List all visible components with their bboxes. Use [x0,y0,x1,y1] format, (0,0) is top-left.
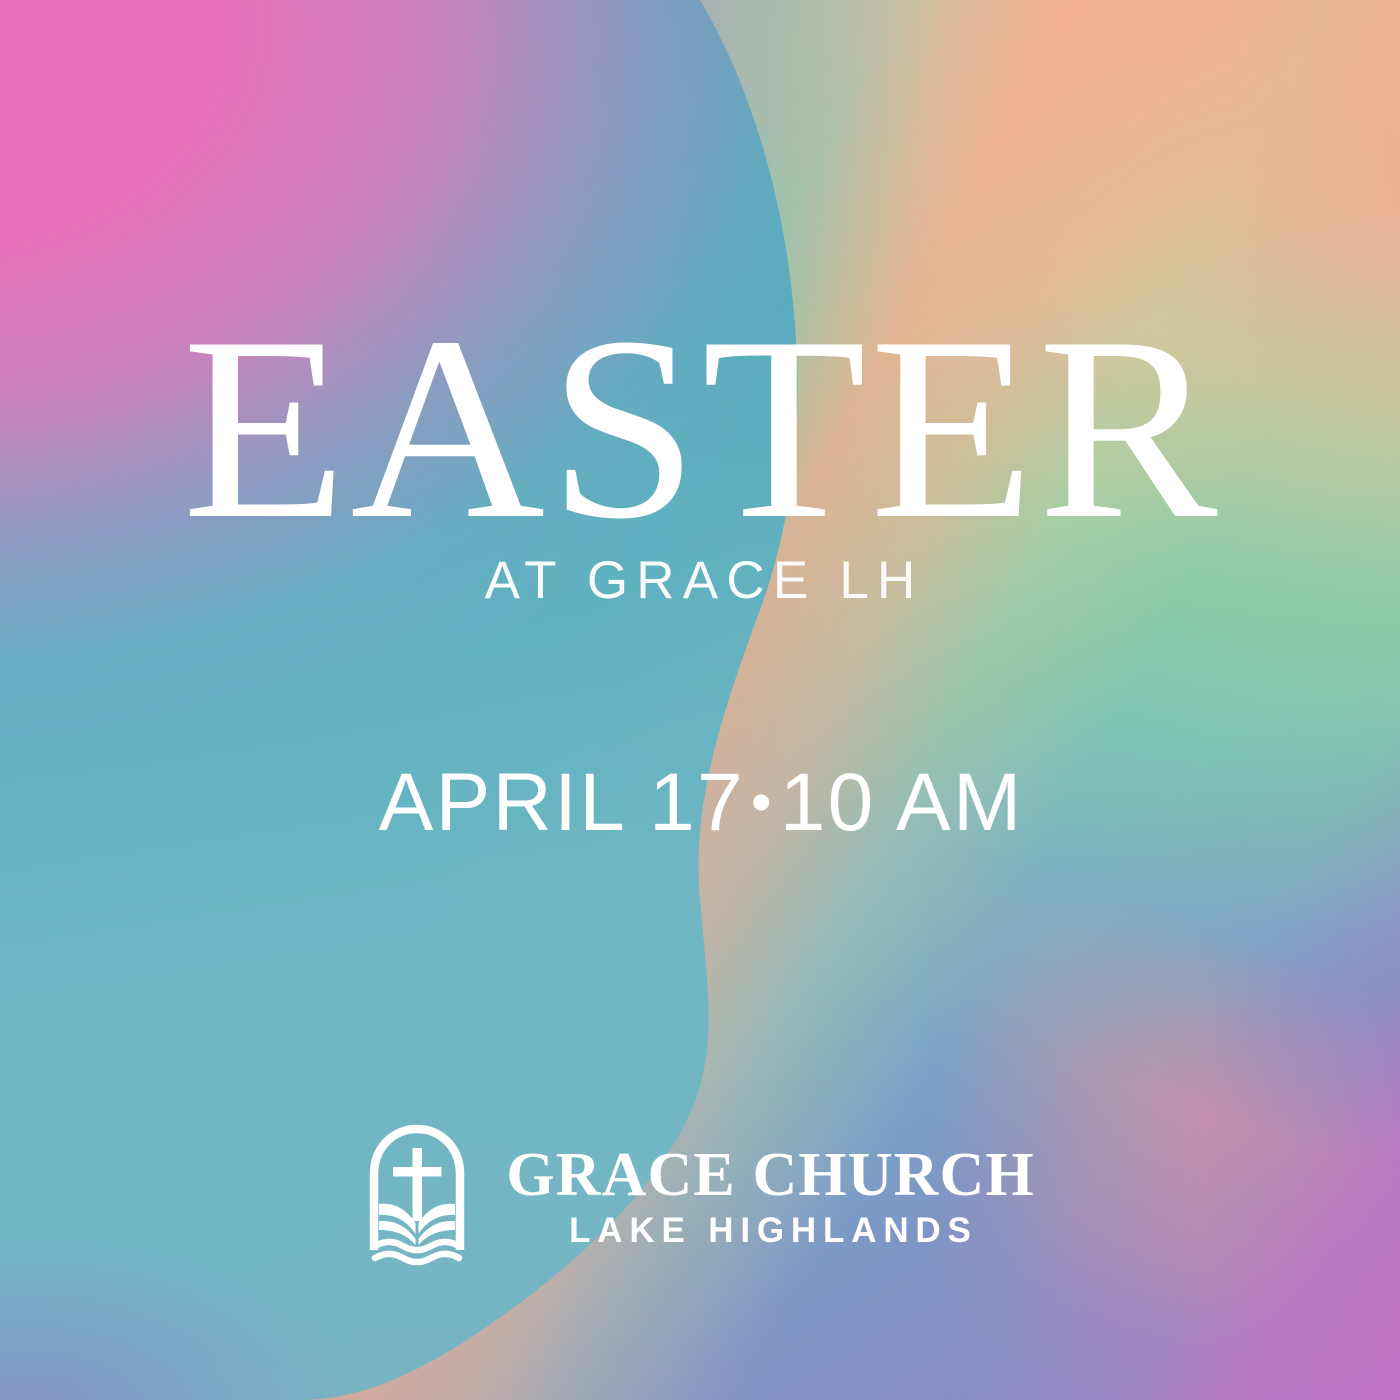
headline-block: EASTER AT GRACE LH [0,318,1400,607]
brand-logo-lockup: GRACE CHURCH LAKE HIGHLANDS [0,1122,1400,1266]
brand-location: LAKE HIGHLANDS [562,1213,977,1248]
event-datetime: APRIL 17•10 AM [0,762,1400,844]
grace-church-arch-cross-book-water-logo-icon [365,1122,469,1266]
subtitle: AT GRACE LH [0,554,1400,607]
brand-wordmark: GRACE CHURCH LAKE HIGHLANDS [505,1140,1034,1248]
bullet-separator-icon: • [745,769,780,835]
brand-name: GRACE CHURCH [505,1144,1034,1206]
easter-promo-poster: EASTER AT GRACE LH APRIL 17•10 AM [0,0,1400,1400]
page-title: EASTER [0,318,1400,538]
event-date: APRIL 17 [379,757,745,848]
event-time: 10 AM [780,757,1024,848]
poster-content: EASTER AT GRACE LH APRIL 17•10 AM [0,0,1400,1400]
